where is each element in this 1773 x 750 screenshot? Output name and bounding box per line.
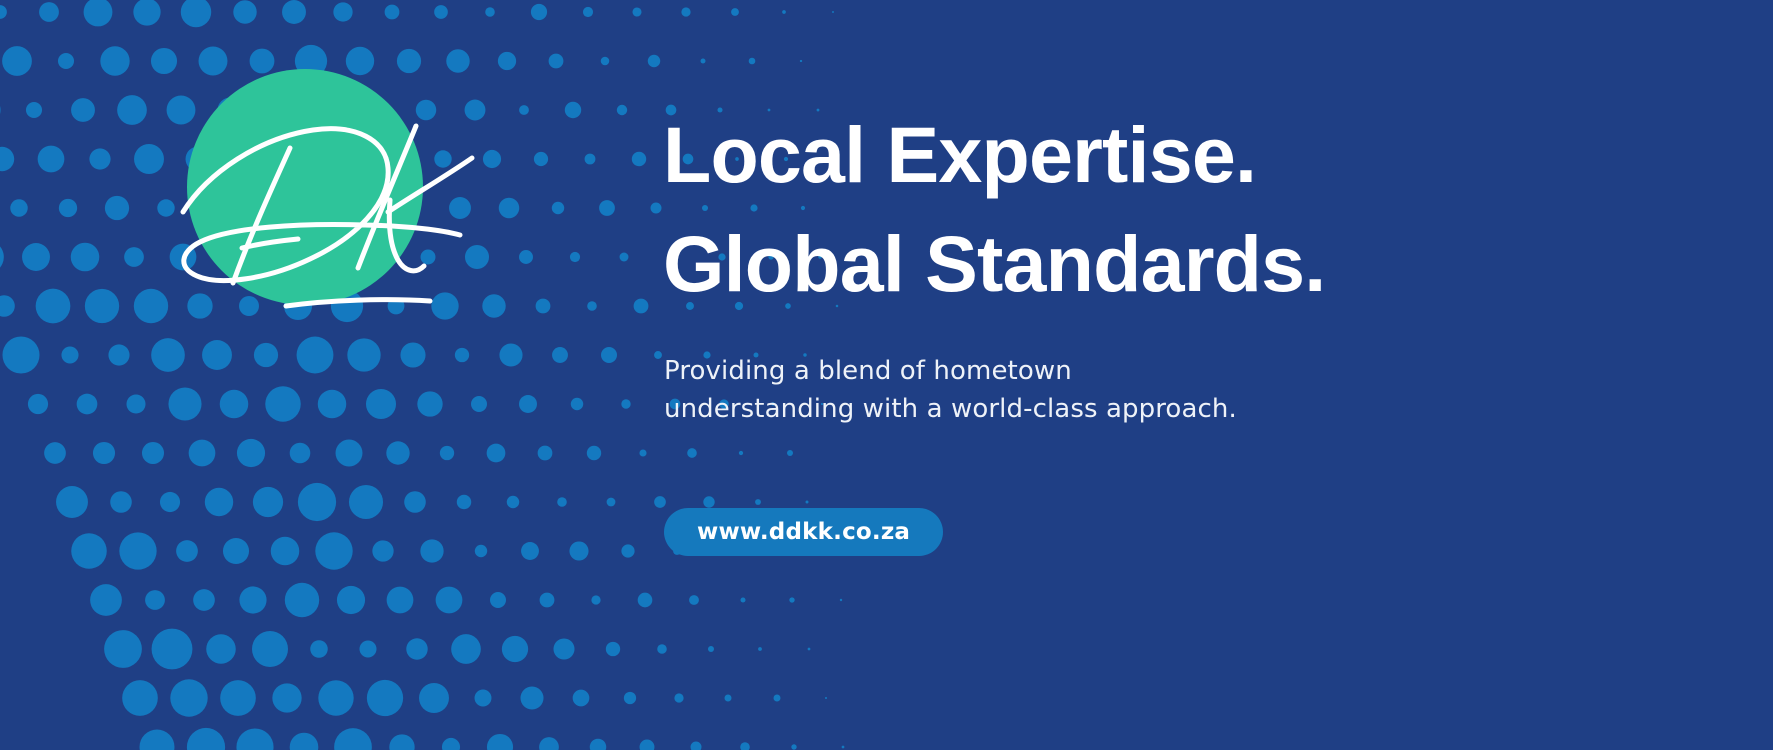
website-cta-button[interactable]: www.ddkk.co.za <box>664 508 943 556</box>
subtitle: Providing a blend of hometown understand… <box>664 352 1344 429</box>
subtitle-line-1: Providing a blend of hometown <box>664 352 1344 390</box>
headline-line-2: Global Standards. <box>663 209 1623 318</box>
banner-content: Local Expertise. Global Standards. Provi… <box>663 0 1663 750</box>
page-title: Local Expertise. Global Standards. <box>663 100 1623 318</box>
subtitle-line-2: understanding with a world-class approac… <box>664 390 1344 428</box>
promo-banner: Local Expertise. Global Standards. Provi… <box>0 0 1773 750</box>
ddkk-logo <box>150 40 480 340</box>
headline-line-1: Local Expertise. <box>663 100 1623 209</box>
